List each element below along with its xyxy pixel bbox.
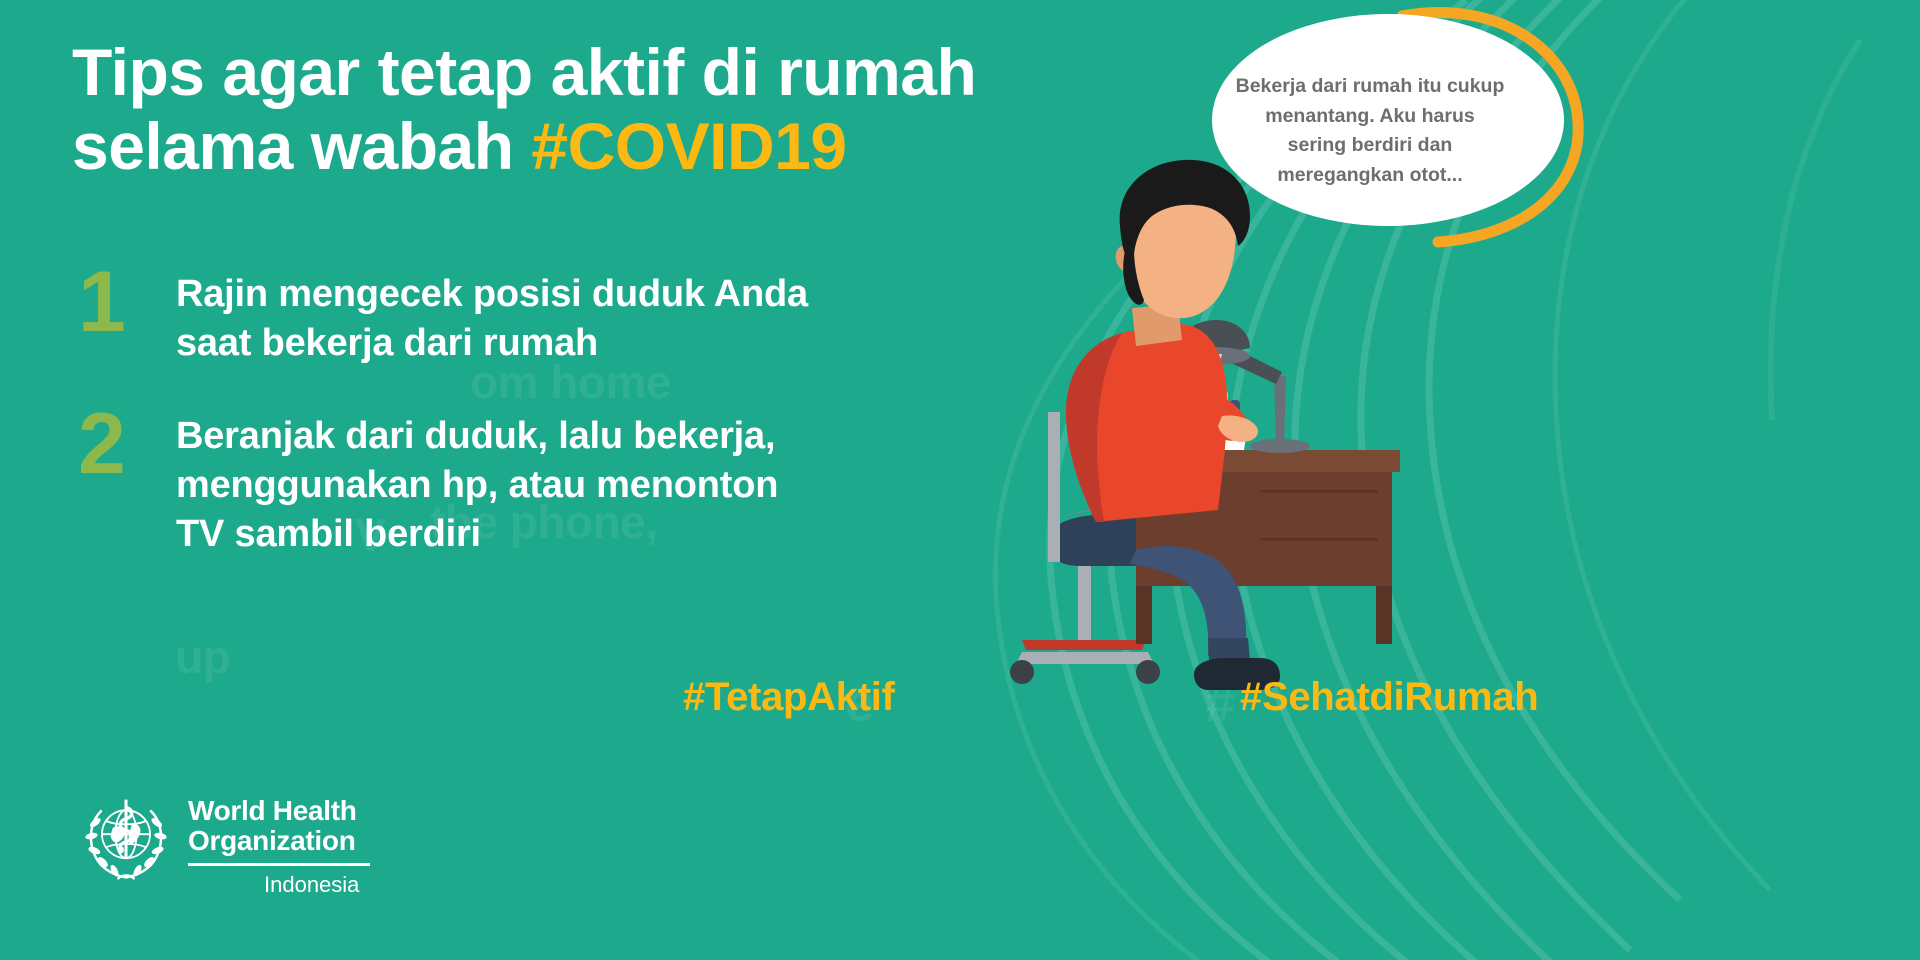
desk-leg-left bbox=[1136, 586, 1152, 644]
desk-drawer-line-2 bbox=[1260, 538, 1378, 541]
tips-list: 1 Rajin mengecek posisi duduk Anda saat … bbox=[78, 262, 908, 595]
chair-post bbox=[1078, 558, 1091, 650]
tip-number-1: 1 bbox=[78, 262, 176, 344]
tip-2-line-1: Beranjak dari duduk, lalu bekerja, bbox=[176, 412, 778, 461]
who-divider-rule bbox=[188, 863, 370, 866]
who-name-line-1: World Health bbox=[188, 796, 370, 826]
desk-leg-right bbox=[1376, 586, 1392, 644]
tip-1-line-2: saat bekerja dari rumah bbox=[176, 319, 808, 368]
tip-number-2: 2 bbox=[78, 404, 176, 486]
ghost-text-3: up bbox=[175, 630, 230, 684]
chair-base-accent bbox=[1022, 640, 1146, 650]
headline-line-2-text: selama wabah bbox=[72, 109, 531, 183]
lamp-stem bbox=[1274, 376, 1286, 446]
headline-line-1: Tips agar tetap aktif di rumah bbox=[72, 36, 952, 110]
hashtag-sehat-di-rumah: #SehatdiRumah bbox=[1240, 675, 1538, 720]
poster-canvas: om home the phone, up e # V Tips agar te… bbox=[0, 0, 1920, 960]
who-logo: World Health Organization Indonesia bbox=[78, 790, 370, 898]
list-item: 1 Rajin mengecek posisi duduk Anda saat … bbox=[78, 262, 908, 368]
page-title: Tips agar tetap aktif di rumah selama wa… bbox=[72, 36, 952, 184]
headline-line-2: selama wabah #COVID19 bbox=[72, 110, 952, 184]
tip-2-line-3: TV sambil berdiri bbox=[176, 510, 778, 559]
tip-2-line-2: menggunakan hp, atau menonton bbox=[176, 461, 778, 510]
who-emblem-icon bbox=[78, 790, 174, 886]
tip-text-2: Beranjak dari duduk, lalu bekerja, mengg… bbox=[176, 404, 778, 559]
chair-base-bar bbox=[1016, 652, 1154, 664]
who-name-line-2: Organization bbox=[188, 826, 370, 856]
person-head bbox=[1116, 160, 1250, 346]
illustration-person-at-desk bbox=[930, 150, 1450, 710]
desk-drawer-line-1 bbox=[1260, 490, 1378, 493]
tip-text-1: Rajin mengecek posisi duduk Anda saat be… bbox=[176, 262, 808, 368]
hashtag-tetap-aktif: #TetapAktif bbox=[683, 675, 895, 720]
who-wordmark: World Health Organization Indonesia bbox=[188, 790, 370, 898]
chair-wheel-left bbox=[1010, 660, 1034, 684]
headline-hashtag-covid19: #COVID19 bbox=[531, 109, 846, 183]
chair-wheel-right bbox=[1136, 660, 1160, 684]
tip-1-line-1: Rajin mengecek posisi duduk Anda bbox=[176, 270, 808, 319]
who-country-label: Indonesia bbox=[188, 872, 370, 898]
chair-back-post bbox=[1048, 412, 1060, 562]
list-item: 2 Beranjak dari duduk, lalu bekerja, men… bbox=[78, 404, 908, 559]
